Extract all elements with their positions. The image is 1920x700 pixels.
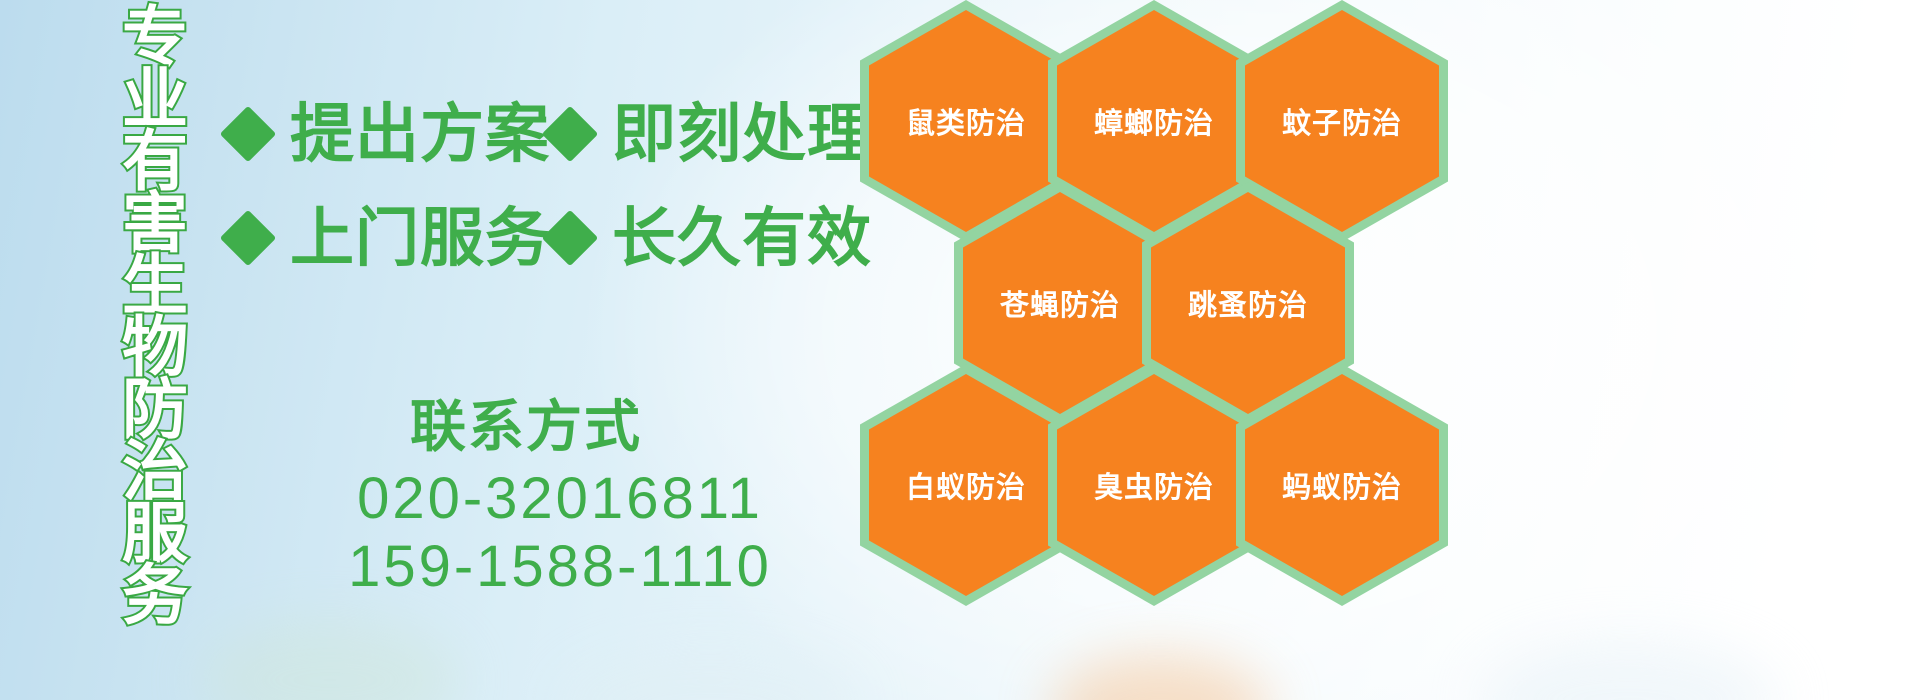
feature-item: 上门服务 bbox=[228, 206, 550, 270]
vertical-headline-char: 专 bbox=[122, 6, 188, 68]
diamond-icon bbox=[220, 210, 277, 267]
vertical-headline-char: 业 bbox=[122, 68, 188, 130]
feature-row: 上门服务 长久有效 bbox=[228, 186, 868, 290]
feature-list: 提出方案 即刻处理 上门服务 长久有效 bbox=[228, 82, 868, 290]
vertical-headline-char: 害 bbox=[122, 192, 188, 254]
service-honeycomb: 鼠类防治 蟑螂防治 蚊子防治 苍蝇防治 跳蚤防治 白蚁防治 臭虫防治 bbox=[852, 0, 1492, 700]
background-blob bbox=[560, 650, 860, 700]
hex-label: 蚊子防治 bbox=[1282, 100, 1402, 142]
contact-title: 联系方式 bbox=[300, 398, 820, 457]
feature-item: 即刻处理 bbox=[550, 102, 872, 166]
background-blob bbox=[200, 620, 460, 700]
hex-label: 白蚁防治 bbox=[906, 464, 1026, 506]
feature-row: 提出方案 即刻处理 bbox=[228, 82, 868, 186]
diamond-icon bbox=[220, 106, 277, 163]
feature-label: 提出方案 bbox=[290, 102, 550, 166]
vertical-headline-char: 物 bbox=[122, 316, 188, 378]
hex-label: 蚂蚁防治 bbox=[1282, 464, 1402, 506]
phone-number-landline[interactable]: 020-32016811 bbox=[300, 465, 820, 533]
hex-label: 臭虫防治 bbox=[1094, 464, 1214, 506]
banner-canvas: 专 业 有 害 生 物 防 治 服 务 提出方案 即刻处理 上门服务 bbox=[0, 0, 1920, 700]
vertical-headline-char: 服 bbox=[122, 502, 188, 564]
hex-label: 蟑螂防治 bbox=[1094, 100, 1214, 142]
diamond-icon bbox=[542, 106, 599, 163]
hex-label: 苍蝇防治 bbox=[1000, 282, 1120, 324]
feature-item: 长久有效 bbox=[550, 206, 872, 270]
hex-label: 跳蚤防治 bbox=[1188, 282, 1308, 324]
hex-label: 鼠类防治 bbox=[906, 100, 1026, 142]
vertical-headline-char: 务 bbox=[122, 564, 188, 626]
vertical-headline-char: 生 bbox=[122, 254, 188, 316]
feature-label: 即刻处理 bbox=[612, 102, 872, 166]
feature-label: 上门服务 bbox=[290, 206, 550, 270]
vertical-headline-char: 防 bbox=[122, 378, 188, 440]
background-blob bbox=[1480, 640, 1780, 700]
vertical-headline-char: 治 bbox=[122, 440, 188, 502]
feature-item: 提出方案 bbox=[228, 102, 550, 166]
feature-label: 长久有效 bbox=[612, 206, 872, 270]
vertical-headline-char: 有 bbox=[122, 130, 188, 192]
vertical-headline: 专 业 有 害 生 物 防 治 服 务 bbox=[96, 6, 214, 566]
phone-number-mobile[interactable]: 159-1588-1110 bbox=[300, 533, 820, 601]
contact-block: 联系方式 020-32016811 159-1588-1110 bbox=[300, 398, 820, 602]
diamond-icon bbox=[542, 210, 599, 267]
